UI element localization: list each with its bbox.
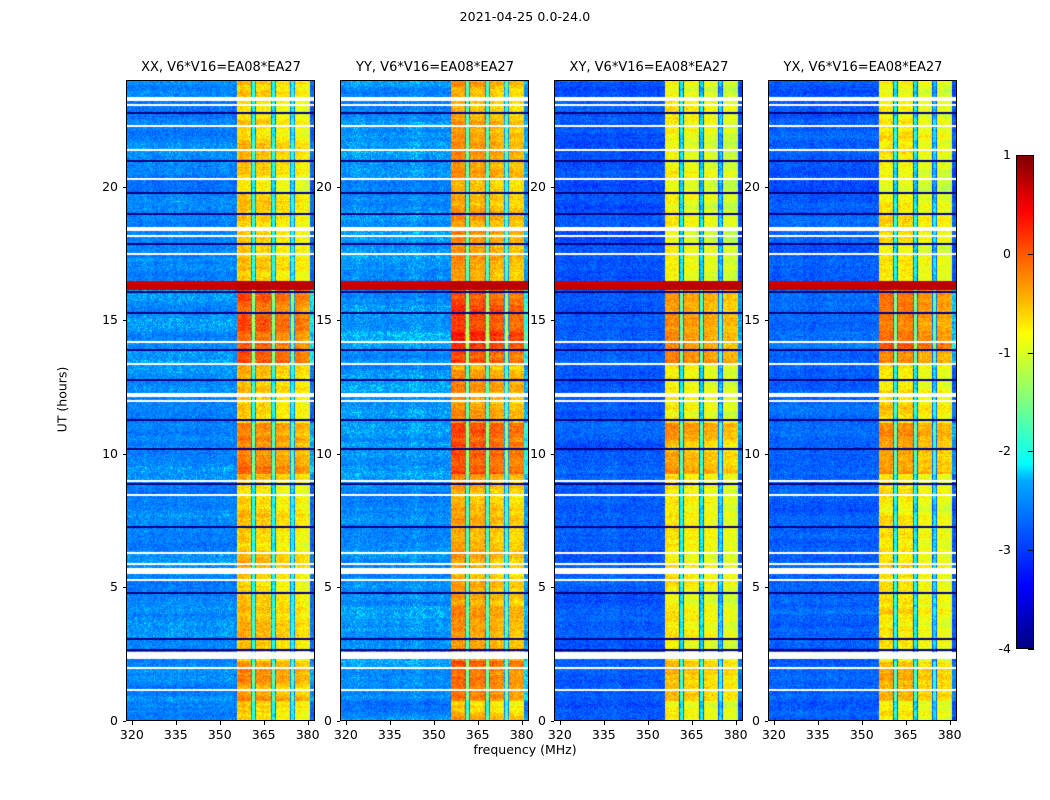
y-tick-yx-1 [765,587,769,588]
x-tick-yy-0 [346,721,347,725]
y-tick-label-xy-1: 5 [512,579,546,594]
y-tick-yx-2 [765,454,769,455]
y-tick-label-yy-2: 10 [298,446,332,461]
spectrogram-image-xy [555,81,743,721]
panel-axes-yx [768,80,957,721]
x-axis-label: frequency (MHz) [0,742,1050,757]
x-tick-xy-3 [692,721,693,725]
x-tick-label-xx-1: 335 [156,727,196,742]
y-tick-yy-3 [337,320,341,321]
x-tick-label-xy-3: 365 [672,727,712,742]
x-tick-label-xy-2: 350 [628,727,668,742]
panel-axes-xx [126,80,315,721]
panel-yx: YX, V6*V16=EA08*EA27 [768,80,957,721]
y-tick-yx-4 [765,187,769,188]
colorbar: 10-1-2-3-4 [1016,155,1034,649]
y-tick-xy-0 [551,721,555,722]
x-tick-xy-0 [560,721,561,725]
x-tick-label-xx-4: 380 [288,727,328,742]
y-tick-label-xy-3: 15 [512,312,546,327]
colorbar-tick-label-0: 1 [981,147,1011,162]
y-tick-xx-4 [123,187,127,188]
figure-canvas: 2021-04-25 0.0-24.0 XX, V6*V16=EA08*EA27… [0,0,1050,800]
y-tick-label-xx-4: 20 [84,179,118,194]
y-tick-xx-2 [123,454,127,455]
x-tick-label-yy-2: 350 [414,727,454,742]
x-tick-yx-1 [818,721,819,725]
colorbar-tick-5 [1028,649,1034,650]
x-tick-xy-2 [648,721,649,725]
panel-xx: XX, V6*V16=EA08*EA27 [126,80,315,721]
y-tick-label-xx-3: 15 [84,312,118,327]
y-tick-yx-3 [765,320,769,321]
y-tick-yy-2 [337,454,341,455]
spectrogram-image-xx [127,81,315,721]
x-tick-yx-0 [774,721,775,725]
x-tick-yy-1 [390,721,391,725]
colorbar-tick-label-2: -1 [981,345,1011,360]
x-tick-yx-2 [862,721,863,725]
colorbar-tick-label-5: -4 [981,641,1011,656]
y-tick-xx-0 [123,721,127,722]
y-tick-yx-0 [765,721,769,722]
y-tick-label-yy-4: 20 [298,179,332,194]
colorbar-tick-label-3: -2 [981,443,1011,458]
y-tick-label-xy-2: 10 [512,446,546,461]
x-tick-yx-4 [950,721,951,725]
x-tick-label-yy-4: 380 [502,727,542,742]
spectrogram-image-yx [769,81,957,721]
y-tick-label-xy-4: 20 [512,179,546,194]
y-tick-label-xx-0: 0 [84,713,118,728]
x-tick-label-yx-4: 380 [930,727,970,742]
y-tick-label-yx-2: 10 [726,446,760,461]
colorbar-tick-2 [1028,353,1034,354]
colorbar-tick-1 [1028,254,1034,255]
y-tick-label-xx-1: 5 [84,579,118,594]
panel-axes-xy [554,80,743,721]
panel-axes-yy [340,80,529,721]
panel-xy: XY, V6*V16=EA08*EA27 [554,80,743,721]
y-tick-xy-2 [551,454,555,455]
y-tick-yy-1 [337,587,341,588]
y-tick-label-yx-3: 15 [726,312,760,327]
y-tick-xx-1 [123,587,127,588]
x-tick-xx-1 [176,721,177,725]
y-tick-label-yy-1: 5 [298,579,332,594]
y-tick-label-yx-1: 5 [726,579,760,594]
x-tick-label-yx-0: 320 [754,727,794,742]
x-tick-label-yy-3: 365 [458,727,498,742]
y-tick-yy-0 [337,721,341,722]
panel-title-yx: YX, V6*V16=EA08*EA27 [726,60,1000,75]
y-tick-xy-3 [551,320,555,321]
figure-suptitle: 2021-04-25 0.0-24.0 [0,9,1050,24]
y-tick-label-xy-0: 0 [512,713,546,728]
y-tick-label-yx-4: 20 [726,179,760,194]
x-tick-yy-3 [478,721,479,725]
x-tick-label-xy-0: 320 [540,727,580,742]
y-tick-label-yy-3: 15 [298,312,332,327]
x-tick-label-yy-1: 335 [370,727,410,742]
x-tick-label-xy-1: 335 [584,727,624,742]
x-tick-label-xx-3: 365 [244,727,284,742]
y-tick-xy-4 [551,187,555,188]
y-axis-label: UT (hours) [55,339,70,459]
x-tick-label-xx-0: 320 [112,727,152,742]
x-tick-label-yx-3: 365 [886,727,926,742]
x-tick-xx-3 [264,721,265,725]
y-tick-xy-1 [551,587,555,588]
x-tick-yy-2 [434,721,435,725]
x-tick-xy-1 [604,721,605,725]
x-tick-label-yy-0: 320 [326,727,366,742]
spectrogram-image-yy [341,81,529,721]
x-tick-xx-2 [220,721,221,725]
x-tick-xx-0 [132,721,133,725]
panel-yy: YY, V6*V16=EA08*EA27 [340,80,529,721]
colorbar-tick-4 [1028,550,1034,551]
y-tick-yy-4 [337,187,341,188]
colorbar-tick-3 [1028,451,1034,452]
x-tick-yx-3 [906,721,907,725]
y-tick-xx-3 [123,320,127,321]
colorbar-gradient [1016,155,1034,649]
colorbar-tick-label-4: -3 [981,542,1011,557]
x-tick-label-xx-2: 350 [200,727,240,742]
y-tick-label-yx-0: 0 [726,713,760,728]
y-tick-label-yy-0: 0 [298,713,332,728]
colorbar-tick-0 [1028,155,1034,156]
x-tick-label-xy-4: 380 [716,727,756,742]
colorbar-tick-label-1: 0 [981,246,1011,261]
x-tick-label-yx-2: 350 [842,727,882,742]
x-tick-label-yx-1: 335 [798,727,838,742]
y-tick-label-xx-2: 10 [84,446,118,461]
